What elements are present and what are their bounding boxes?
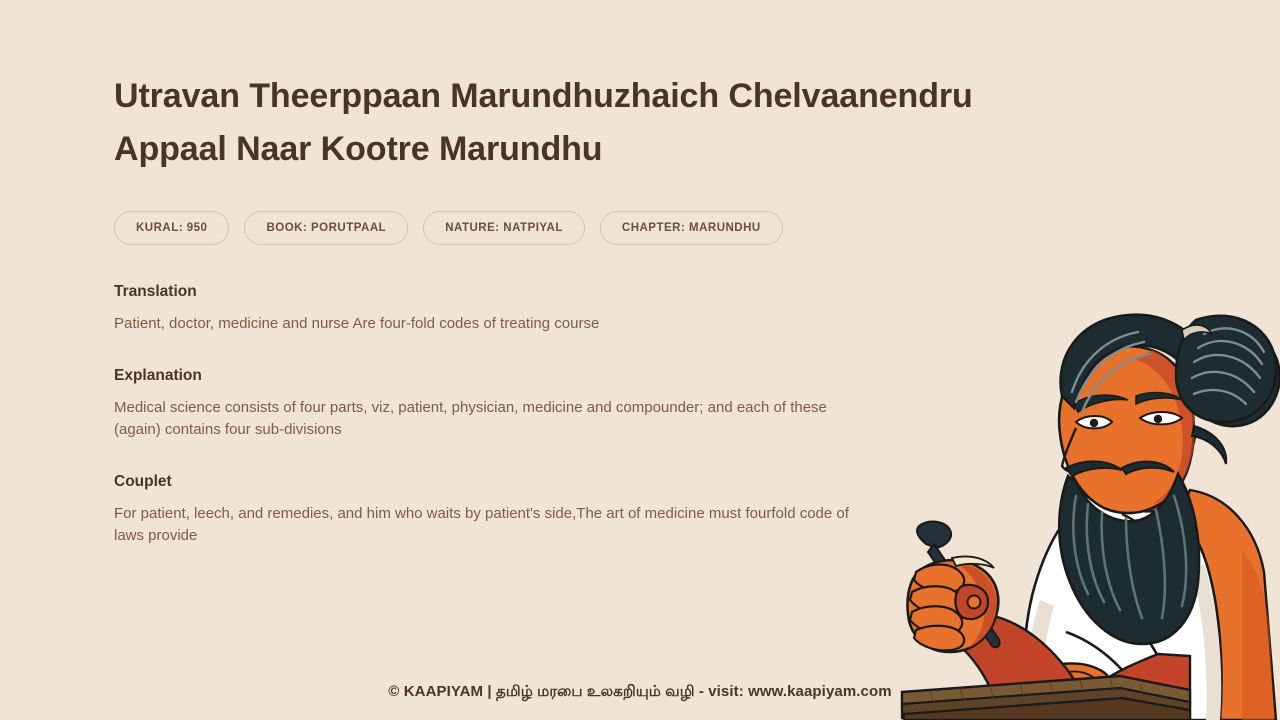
section-explanation: Explanation Medical science consists of … — [114, 367, 1034, 441]
meta-badge-row: KURAL: 950 BOOK: PORUTPAAL NATURE: NATPI… — [114, 211, 1034, 245]
badge-chapter[interactable]: CHAPTER: MARUNDHU — [600, 211, 783, 245]
footer-credit: © KAAPIYAM | தமிழ் மரபை உலகறியும் வழி - … — [0, 683, 1280, 702]
kural-card-page: Utravan Theerppaan Marundhuzhaich Chelva… — [0, 0, 1280, 720]
section-translation: Translation Patient, doctor, medicine an… — [114, 283, 1034, 335]
translation-heading: Translation — [114, 283, 1034, 301]
badge-kural-number[interactable]: KURAL: 950 — [114, 211, 229, 245]
kural-content: Utravan Theerppaan Marundhuzhaich Chelva… — [114, 70, 1034, 547]
page-title: Utravan Theerppaan Marundhuzhaich Chelva… — [114, 70, 1024, 176]
badge-nature[interactable]: NATURE: NATPIYAL — [423, 211, 585, 245]
couplet-text: For patient, leech, and remedies, and hi… — [114, 503, 864, 547]
translation-text: Patient, doctor, medicine and nurse Are … — [114, 313, 854, 335]
explanation-text: Medical science consists of four parts, … — [114, 397, 854, 441]
couplet-heading: Couplet — [114, 473, 1034, 491]
badge-book[interactable]: BOOK: PORUTPAAL — [244, 211, 408, 245]
explanation-heading: Explanation — [114, 367, 1034, 385]
section-couplet: Couplet For patient, leech, and remedies… — [114, 473, 1034, 547]
